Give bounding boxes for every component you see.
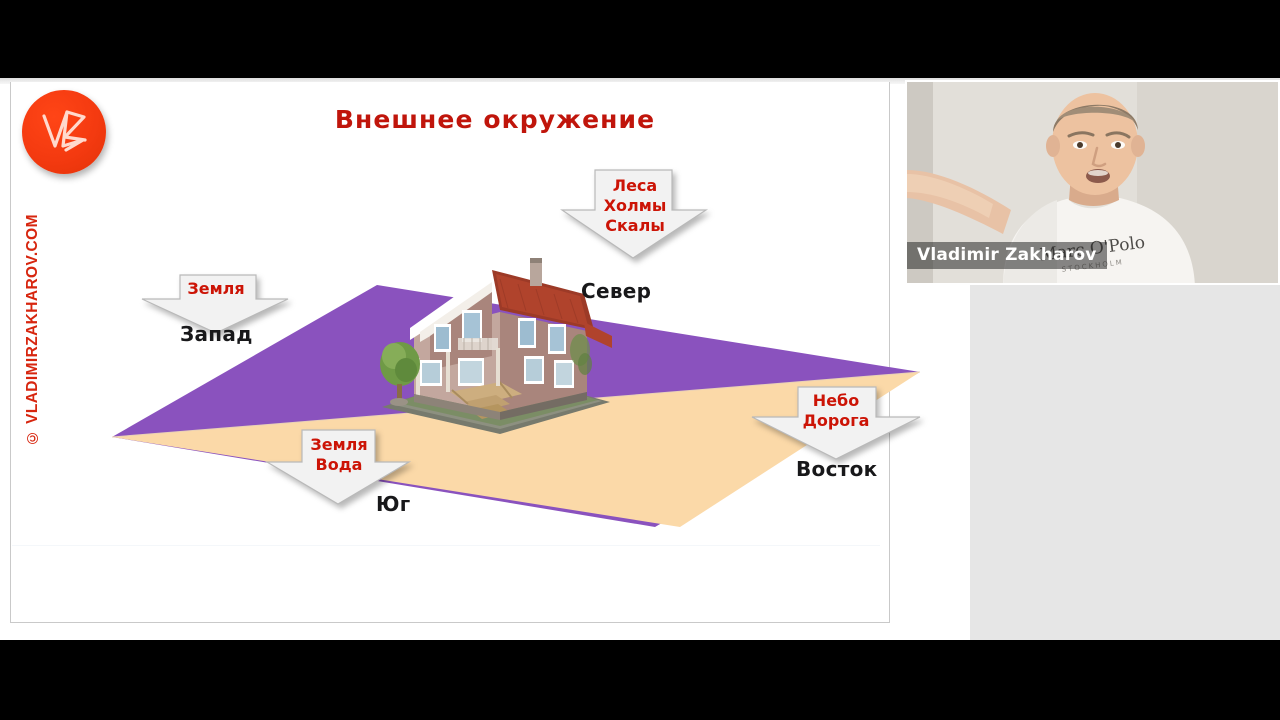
- south-line-1: Земля: [265, 435, 413, 455]
- vz-monogram-icon: [22, 90, 106, 174]
- direction-label-south: Юг: [376, 492, 411, 516]
- north-line-3: Скалы: [560, 216, 710, 236]
- direction-label-east: Восток: [796, 457, 878, 481]
- screen-root: © VLADIMIRZAKHAROV.COM Внешнее окружение: [0, 0, 1280, 720]
- south-callout-text: Земля Вода: [265, 435, 413, 475]
- west-callout-text: Земля: [140, 279, 292, 299]
- letterbox-bottom: [0, 640, 1280, 720]
- presenter-webcam[interactable]: Marc O'Polo STOCKHOLM Vladimir Zakharov: [905, 80, 1280, 285]
- north-callout-text: Леса Холмы Скалы: [560, 176, 710, 236]
- north-line-2: Холмы: [560, 196, 710, 216]
- south-line-2: Вода: [265, 455, 413, 475]
- page-title: Внешнее окружение: [330, 105, 660, 134]
- east-line-1: Небо: [748, 391, 924, 411]
- callout-east[interactable]: Небо Дорога: [748, 385, 924, 461]
- east-callout-text: Небо Дорога: [748, 391, 924, 431]
- copyright-watermark: © VLADIMIRZAKHAROV.COM: [18, 196, 48, 446]
- direction-label-north: Север: [581, 279, 651, 303]
- east-line-2: Дорога: [748, 411, 924, 431]
- direction-label-west: Запад: [180, 322, 253, 346]
- callout-north[interactable]: Леса Холмы Скалы: [560, 168, 710, 260]
- letterbox-top: [0, 0, 1280, 78]
- brand-logo: [22, 90, 106, 174]
- north-line-1: Леса: [560, 176, 710, 196]
- presenter-name-badge: Vladimir Zakharov: [907, 242, 1107, 269]
- west-line-1: Земля: [140, 279, 292, 299]
